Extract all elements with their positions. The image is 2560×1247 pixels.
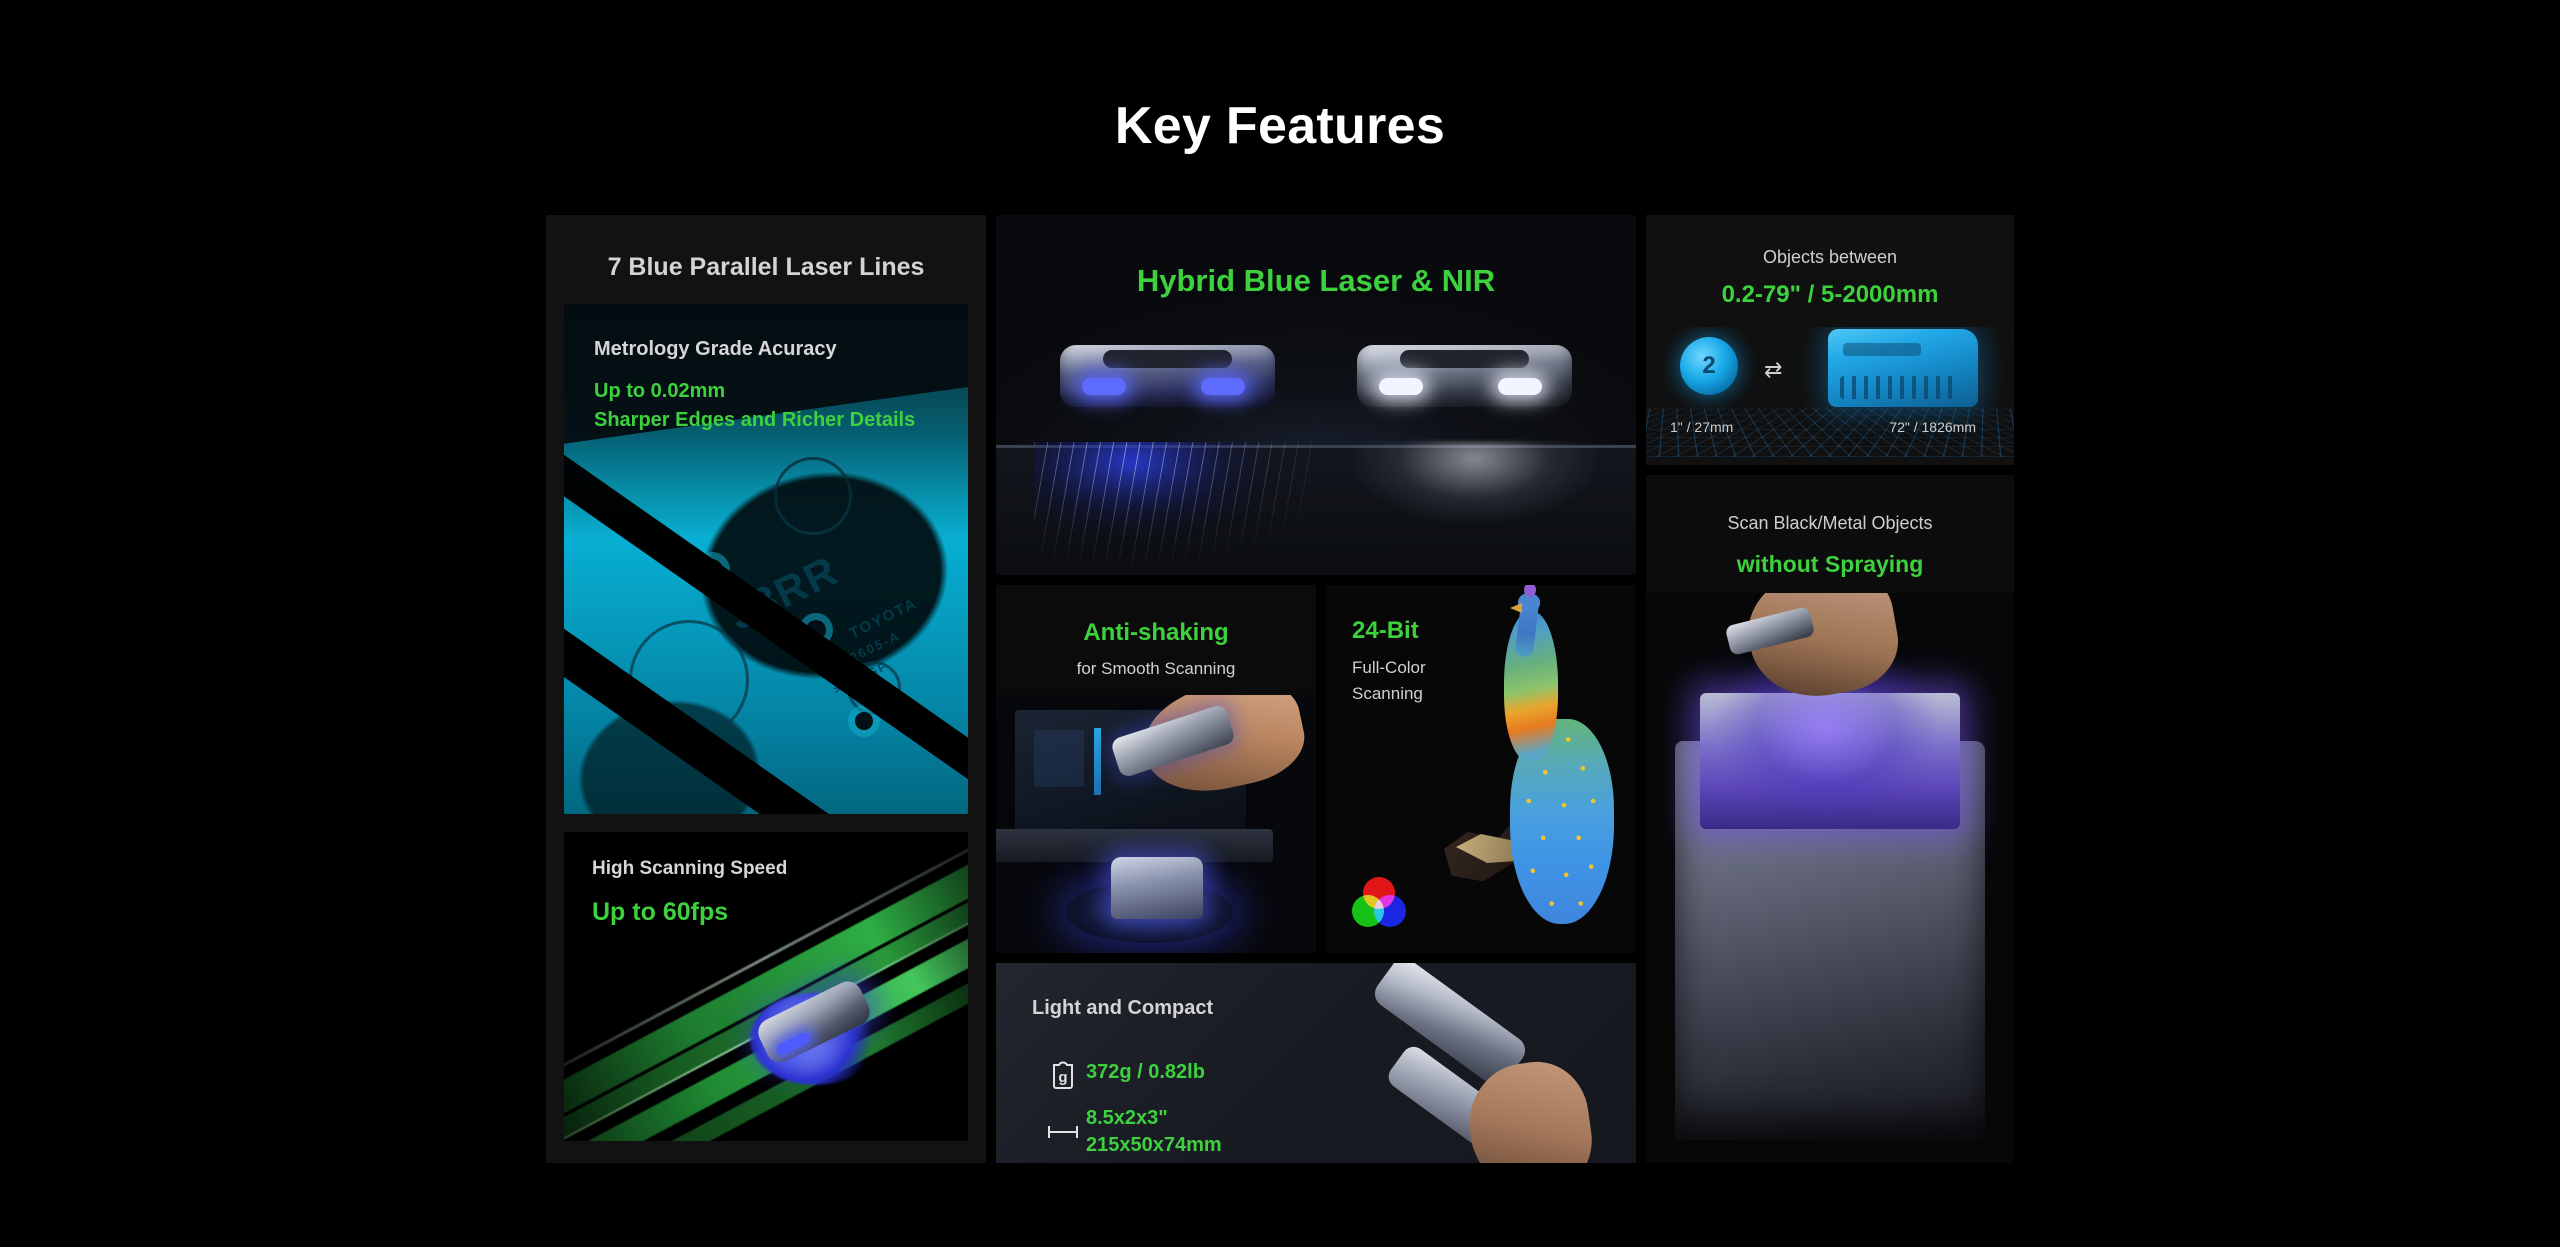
spec-row-weight: g 372g / 0.82lb bbox=[1040, 1055, 1222, 1089]
svg-text:g: g bbox=[1058, 1069, 1067, 1086]
black-metal-card[interactable]: Scan Black/Metal Objects without Sprayin… bbox=[1646, 475, 2014, 1163]
color-scanning-card[interactable]: 24-Bit Full-Color Scanning bbox=[1326, 585, 1636, 953]
accuracy-card-text: Metrology Grade Acuracy Up to 0.02mm Sha… bbox=[594, 338, 915, 435]
page-title: Key Features bbox=[0, 96, 2560, 156]
spec-dimension-inches: 8.5x2x3" bbox=[1086, 1105, 1222, 1132]
black-metal-value: without Spraying bbox=[1646, 551, 2014, 578]
dimension-ruler-icon bbox=[1040, 1124, 1086, 1140]
size-small-label: 1" / 27mm bbox=[1670, 419, 1733, 435]
size-comparison-image: 2 ⇄ 1" / 27mm 72" / 1826mm bbox=[1646, 327, 2014, 465]
accuracy-detail: Sharper Edges and Richer Details bbox=[594, 406, 915, 435]
anti-shaking-title: Anti-shaking bbox=[996, 619, 1316, 647]
center-middle-row: Anti-shaking for Smooth Scanning 24-Bit … bbox=[996, 585, 1636, 953]
light-compact-card[interactable]: Light and Compact g 372g / 0.82lb bbox=[996, 963, 1636, 1163]
color-subtitle-line1: Full-Color bbox=[1352, 655, 1426, 681]
anti-shaking-card[interactable]: Anti-shaking for Smooth Scanning bbox=[996, 585, 1316, 953]
color-subtitle: Full-Color Scanning bbox=[1352, 655, 1426, 708]
left-column: 7 Blue Parallel Laser Lines 38RR TOYOTA … bbox=[546, 215, 986, 1163]
weight-tag-icon: g bbox=[1040, 1055, 1086, 1089]
anti-shaking-image bbox=[996, 695, 1316, 953]
anti-shaking-subtitle: for Smooth Scanning bbox=[996, 659, 1316, 679]
right-column: Objects between 0.2-79" / 5-2000mm 2 ⇄ 1… bbox=[1646, 215, 2014, 1163]
object-size-card[interactable]: Objects between 0.2-79" / 5-2000mm 2 ⇄ 1… bbox=[1646, 215, 2014, 465]
size-compare-arrow-icon: ⇄ bbox=[1764, 357, 1782, 383]
hybrid-laser-card[interactable]: Hybrid Blue Laser & NIR bbox=[996, 215, 1636, 575]
black-metal-headline: Scan Black/Metal Objects bbox=[1646, 513, 2014, 534]
key-features-grid: 7 Blue Parallel Laser Lines 38RR TOYOTA … bbox=[546, 215, 2014, 1163]
size-value: 0.2-79" / 5-2000mm bbox=[1646, 281, 2014, 309]
color-title: 24-Bit bbox=[1352, 617, 1419, 645]
rgb-venn-icon bbox=[1352, 877, 1406, 927]
spec-dimension-value: 8.5x2x3" 215x50x74mm bbox=[1086, 1105, 1222, 1159]
speed-headline: High Scanning Speed bbox=[592, 858, 787, 880]
spec-row-dimensions: 8.5x2x3" 215x50x74mm bbox=[1040, 1105, 1222, 1159]
accuracy-headline: Metrology Grade Acuracy bbox=[594, 338, 915, 361]
speed-card[interactable]: High Scanning Speed Up to 60fps bbox=[564, 832, 968, 1141]
speed-card-text: High Scanning Speed Up to 60fps bbox=[592, 858, 787, 927]
compact-device-image bbox=[1360, 977, 1580, 1163]
color-subtitle-line2: Scanning bbox=[1352, 681, 1426, 707]
size-headline: Objects between bbox=[1646, 247, 2014, 268]
black-metal-image bbox=[1646, 593, 2014, 1163]
peacock-scan-image bbox=[1440, 599, 1630, 929]
size-large-label: 72" / 1826mm bbox=[1889, 419, 1976, 435]
accuracy-value: Up to 0.02mm bbox=[594, 377, 915, 406]
center-column: Hybrid Blue Laser & NIR Anti-shaking for… bbox=[996, 215, 1636, 1163]
hybrid-title: Hybrid Blue Laser & NIR bbox=[996, 263, 1636, 299]
left-section-title: 7 Blue Parallel Laser Lines bbox=[546, 215, 986, 282]
spec-weight-value: 372g / 0.82lb bbox=[1086, 1059, 1205, 1086]
spec-dimension-mm: 215x50x74mm bbox=[1086, 1132, 1222, 1159]
coin-object: 2 bbox=[1680, 337, 1738, 395]
compact-title: Light and Compact bbox=[1032, 997, 1213, 1020]
accuracy-card[interactable]: 38RR TOYOTA 62605-A >PP+GF Metrology Gra… bbox=[564, 304, 968, 814]
compact-spec-list: g 372g / 0.82lb 8.5x2x3" bbox=[1040, 1055, 1222, 1163]
large-object bbox=[1828, 329, 1978, 407]
speed-value: Up to 60fps bbox=[592, 898, 787, 927]
